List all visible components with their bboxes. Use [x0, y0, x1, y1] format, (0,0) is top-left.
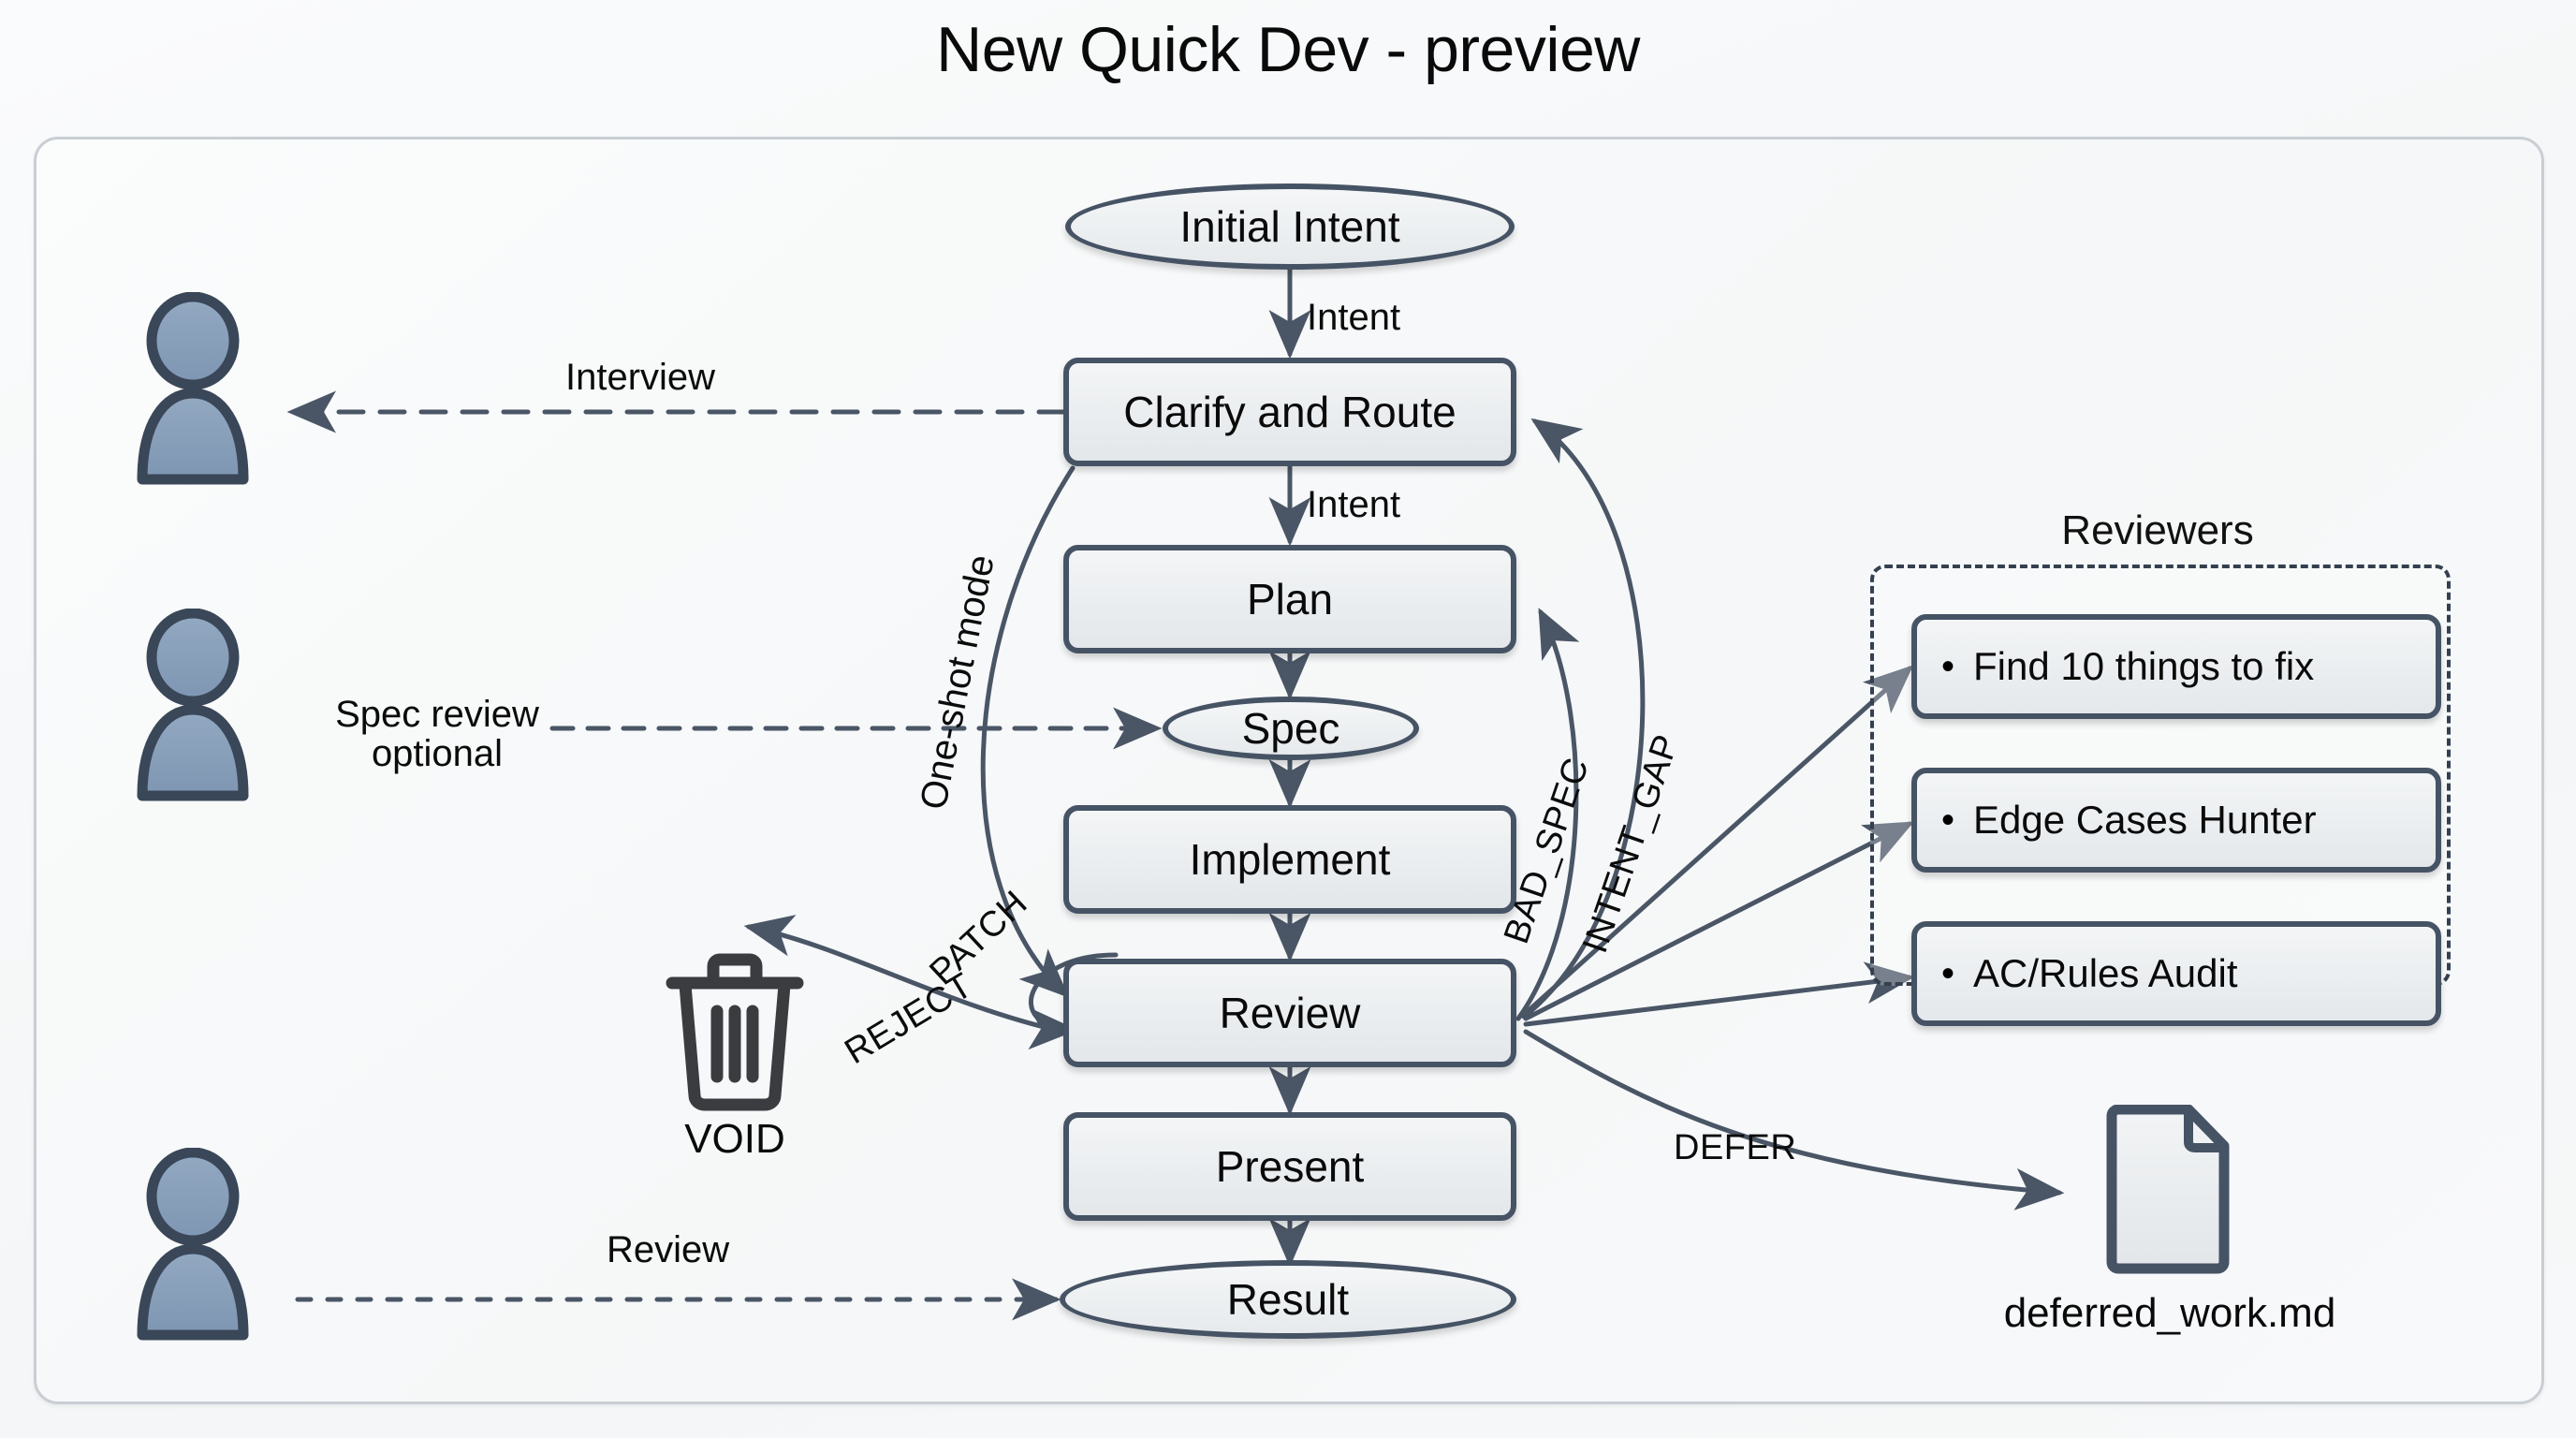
user-icon: [133, 609, 311, 805]
actor-interview[interactable]: [133, 292, 311, 493]
node-label: Initial Intent: [1179, 201, 1399, 252]
reviewer-item-find-10-things-to-fix[interactable]: • Find 10 things to fix: [1911, 614, 2441, 719]
reviewer-label: AC/Rules Audit: [1973, 951, 2237, 996]
edge-label-review-bottom: Review: [607, 1230, 729, 1269]
page-title: New Quick Dev - preview: [0, 13, 2576, 86]
node-label: Review: [1220, 988, 1361, 1038]
reviewer-item-edge-cases-hunter[interactable]: • Edge Cases Hunter: [1911, 768, 2441, 873]
node-initial-intent[interactable]: Initial Intent: [1065, 183, 1515, 270]
node-label: Result: [1227, 1274, 1349, 1325]
actor-spec-review[interactable]: [133, 609, 311, 810]
edge-label-spec-review-line1: Spec review: [301, 695, 573, 734]
void-artifact[interactable]: [655, 946, 814, 1119]
node-result[interactable]: Result: [1060, 1260, 1516, 1339]
node-label: Spec: [1242, 703, 1340, 754]
node-label: Implement: [1190, 834, 1391, 885]
deferred-work-label: deferred_work.md: [1947, 1290, 2393, 1337]
node-clarify-and-route[interactable]: Clarify and Route: [1063, 358, 1516, 466]
bullet-icon: •: [1941, 648, 1954, 685]
actor-result-review[interactable]: [133, 1148, 311, 1349]
node-present[interactable]: Present: [1063, 1112, 1516, 1221]
deferred-work-artifact[interactable]: [2102, 1105, 2233, 1280]
node-label: Plan: [1247, 574, 1333, 624]
void-label: VOID: [655, 1116, 814, 1163]
edge-label-interview: Interview: [565, 358, 715, 397]
diagram-canvas: New Quick Dev - preview: [0, 0, 2576, 1438]
edge-label-intent-top: Intent: [1307, 298, 1400, 337]
node-implement[interactable]: Implement: [1063, 805, 1516, 914]
trash-icon: [655, 946, 814, 1114]
bullet-icon: •: [1941, 801, 1954, 839]
reviewers-cluster-title: Reviewers: [1867, 507, 2448, 554]
node-spec[interactable]: Spec: [1163, 697, 1419, 760]
edge-label-defer: DEFER: [1674, 1129, 1796, 1167]
reviewer-label: Edge Cases Hunter: [1973, 798, 2317, 843]
user-icon: [133, 292, 311, 489]
edge-label-intent-mid: Intent: [1307, 485, 1400, 524]
reviewer-label: Find 10 things to fix: [1973, 644, 2314, 689]
node-label: Present: [1216, 1141, 1365, 1192]
node-review[interactable]: Review: [1063, 959, 1516, 1067]
node-label: Clarify and Route: [1123, 387, 1456, 437]
edge-label-spec-review: Spec review optional: [301, 695, 573, 774]
edge-label-spec-review-line2: optional: [301, 734, 573, 773]
reviewer-item-ac-rules-audit[interactable]: • AC/Rules Audit: [1911, 921, 2441, 1026]
node-plan[interactable]: Plan: [1063, 545, 1516, 653]
file-icon: [2102, 1105, 2233, 1275]
user-icon: [133, 1148, 311, 1344]
bullet-icon: •: [1941, 955, 1954, 992]
